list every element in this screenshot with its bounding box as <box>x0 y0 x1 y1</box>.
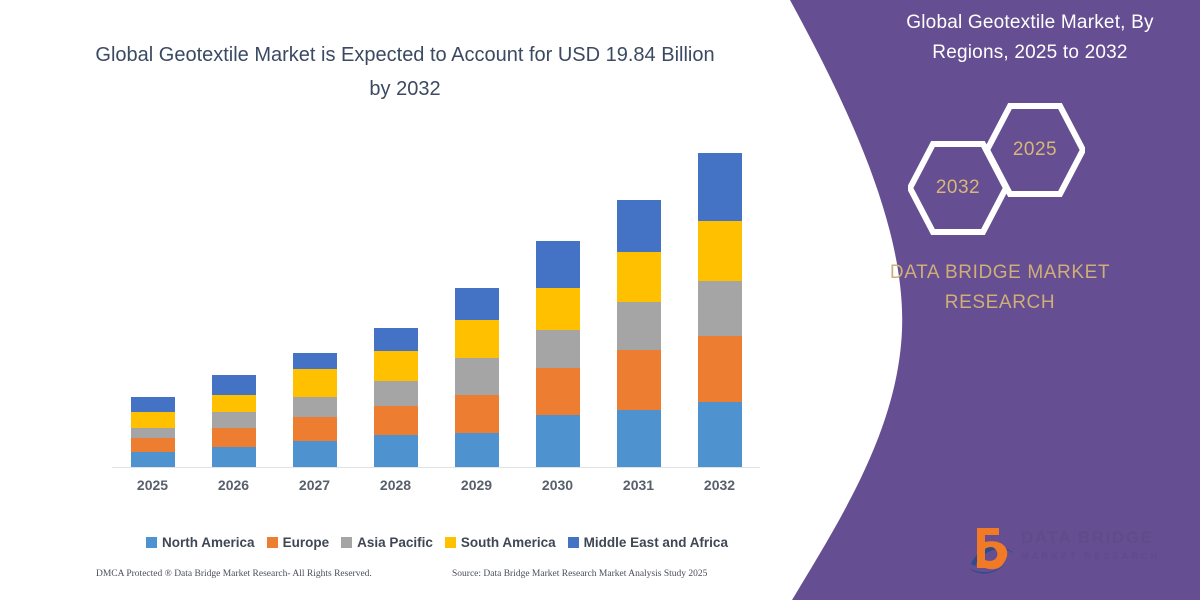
bar-segment-europe <box>293 417 337 441</box>
bar-segment-middle-east-and-africa <box>131 397 175 412</box>
bar-segment-middle-east-and-africa <box>617 200 661 252</box>
bar-segment-europe <box>698 336 742 402</box>
legend-item-asia-pacific[interactable]: Asia Pacific <box>341 535 433 550</box>
bar-2032 <box>698 153 742 467</box>
panel-title: Global Geotextile Market, By Regions, 20… <box>880 8 1180 68</box>
legend-swatch-icon <box>568 537 579 548</box>
chart-title: Global Geotextile Market is Expected to … <box>85 38 725 106</box>
bar-2028 <box>374 328 418 467</box>
bar-segment-middle-east-and-africa <box>455 288 499 320</box>
x-axis-label-2032: 2032 <box>680 474 760 496</box>
bar-segment-north-america <box>131 452 175 467</box>
logo-wordmark: DATA BRIDGE MARKET RESEARCH <box>1021 528 1181 564</box>
bar-segment-south-america <box>698 221 742 281</box>
legend-label: South America <box>461 535 556 550</box>
bar-segment-north-america <box>212 447 256 467</box>
bar-segment-asia-pacific <box>617 302 661 350</box>
x-axis-line <box>112 467 760 468</box>
footer: DMCA Protected ® Data Bridge Market Rese… <box>0 566 790 592</box>
bar-segment-north-america <box>455 433 499 467</box>
legend-label: Middle East and Africa <box>584 535 728 550</box>
bar-segment-south-america <box>617 252 661 302</box>
bar-segment-middle-east-and-africa <box>212 375 256 395</box>
x-axis-labels: 20252026202720282029203020312032 <box>112 474 760 498</box>
bar-segment-north-america <box>617 410 661 467</box>
hexagon-2025-label: 2025 <box>985 100 1085 200</box>
legend-label: Asia Pacific <box>357 535 433 550</box>
footer-copyright: DMCA Protected ® Data Bridge Market Rese… <box>96 566 372 582</box>
bar-segment-south-america <box>212 395 256 412</box>
bar-segment-europe <box>455 395 499 433</box>
bar-segment-south-america <box>374 351 418 381</box>
legend-item-south-america[interactable]: South America <box>445 535 556 550</box>
bar-segment-asia-pacific <box>455 358 499 395</box>
bar-segment-europe <box>617 350 661 410</box>
bar-segment-middle-east-and-africa <box>293 353 337 369</box>
x-axis-label-2027: 2027 <box>275 474 355 496</box>
bar-segment-north-america <box>536 415 580 467</box>
bar-segment-middle-east-and-africa <box>698 153 742 221</box>
infographic-root: Global Geotextile Market is Expected to … <box>0 0 1200 600</box>
bar-segment-europe <box>212 428 256 447</box>
legend-swatch-icon <box>445 537 456 548</box>
footer-source: Source: Data Bridge Market Research Mark… <box>452 566 707 582</box>
legend-item-europe[interactable]: Europe <box>267 535 330 550</box>
bar-segment-europe <box>374 406 418 435</box>
bar-2025 <box>131 397 175 467</box>
x-axis-label-2031: 2031 <box>599 474 679 496</box>
x-axis-label-2026: 2026 <box>194 474 274 496</box>
right-purple-panel: Global Geotextile Market, By Regions, 20… <box>780 0 1200 600</box>
bar-segment-south-america <box>455 320 499 358</box>
legend-item-middle-east-and-africa[interactable]: Middle East and Africa <box>568 535 728 550</box>
chart-legend: North AmericaEuropeAsia PacificSouth Ame… <box>112 531 762 553</box>
bar-segment-asia-pacific <box>536 330 580 368</box>
bar-segment-asia-pacific <box>212 412 256 428</box>
bar-segment-asia-pacific <box>698 281 742 336</box>
x-axis-label-2030: 2030 <box>518 474 598 496</box>
bar-segment-south-america <box>293 369 337 397</box>
legend-label: North America <box>162 535 255 550</box>
bar-segment-asia-pacific <box>374 381 418 406</box>
company-logo: DATA BRIDGE MARKET RESEARCH <box>965 522 1180 582</box>
bar-2031 <box>617 200 661 467</box>
x-axis-label-2028: 2028 <box>356 474 436 496</box>
logo-line-2: MARKET RESEARCH <box>1021 548 1181 564</box>
hexagon-2025: 2025 <box>985 100 1085 200</box>
bar-segment-europe <box>536 368 580 415</box>
bar-segment-asia-pacific <box>131 428 175 438</box>
logo-line-1: DATA BRIDGE <box>1021 528 1181 548</box>
bar-segment-north-america <box>293 441 337 467</box>
legend-swatch-icon <box>146 537 157 548</box>
x-axis-label-2025: 2025 <box>113 474 193 496</box>
bar-2027 <box>293 353 337 467</box>
hexagon-group: 2032 2025 <box>890 100 1190 240</box>
bar-segment-north-america <box>374 435 418 467</box>
bar-segment-south-america <box>536 288 580 330</box>
bar-2026 <box>212 375 256 467</box>
brand-name: DATA BRIDGE MARKET RESEARCH <box>840 258 1160 318</box>
bar-segment-asia-pacific <box>293 397 337 417</box>
bar-segment-europe <box>131 438 175 452</box>
legend-swatch-icon <box>267 537 278 548</box>
legend-label: Europe <box>283 535 330 550</box>
bar-segment-south-america <box>131 412 175 428</box>
bar-segment-middle-east-and-africa <box>536 241 580 288</box>
data-bridge-logo-icon <box>965 524 1021 576</box>
bar-2029 <box>455 288 499 467</box>
legend-item-north-america[interactable]: North America <box>146 535 255 550</box>
bar-2030 <box>536 241 580 467</box>
stacked-bar-group <box>112 140 760 467</box>
bar-segment-north-america <box>698 402 742 467</box>
x-axis-label-2029: 2029 <box>437 474 517 496</box>
legend-swatch-icon <box>341 537 352 548</box>
bar-segment-middle-east-and-africa <box>374 328 418 351</box>
